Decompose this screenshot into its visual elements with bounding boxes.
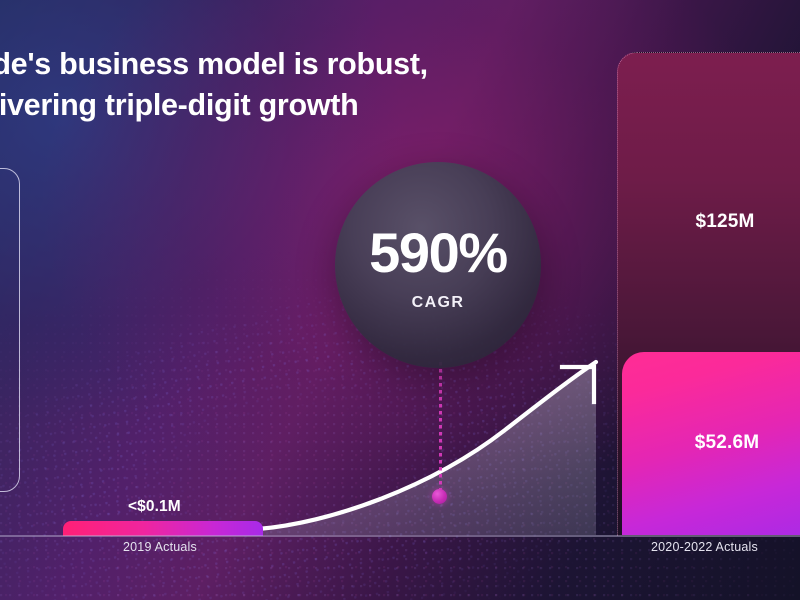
cagr-value: 590% <box>369 225 507 281</box>
connector-dotted-line <box>439 362 442 493</box>
growth-curve-fill <box>258 362 596 535</box>
page-title-line-2: elivering triple-digit growth <box>0 85 534 126</box>
decorative-frame-left <box>0 168 20 492</box>
slide-canvas: ode's business model is robust, eliverin… <box>0 0 800 600</box>
bar-value-label-actual: $52.6M <box>622 432 800 454</box>
axis-category-label-left: 2019 Actuals <box>123 540 197 554</box>
bar-value-label-2019: <$0.1M <box>128 498 181 516</box>
bar-actual-2020-2022: $52.6M <box>622 352 800 535</box>
page-title: ode's business model is robust, eliverin… <box>0 44 534 125</box>
connector-node-dot <box>432 489 447 504</box>
cagr-label: CAGR <box>412 294 465 312</box>
bar-value-label-projected: $125M <box>618 211 800 233</box>
growth-arrow-icon <box>562 367 594 402</box>
axis-baseline <box>0 535 800 537</box>
page-title-line-1: ode's business model is robust, <box>0 44 534 85</box>
bar-actual-2019 <box>63 521 263 536</box>
cagr-badge: 590% CAGR <box>335 162 541 368</box>
growth-curve-line <box>258 362 596 529</box>
axis-category-label-right: 2020-2022 Actuals <box>651 540 758 554</box>
